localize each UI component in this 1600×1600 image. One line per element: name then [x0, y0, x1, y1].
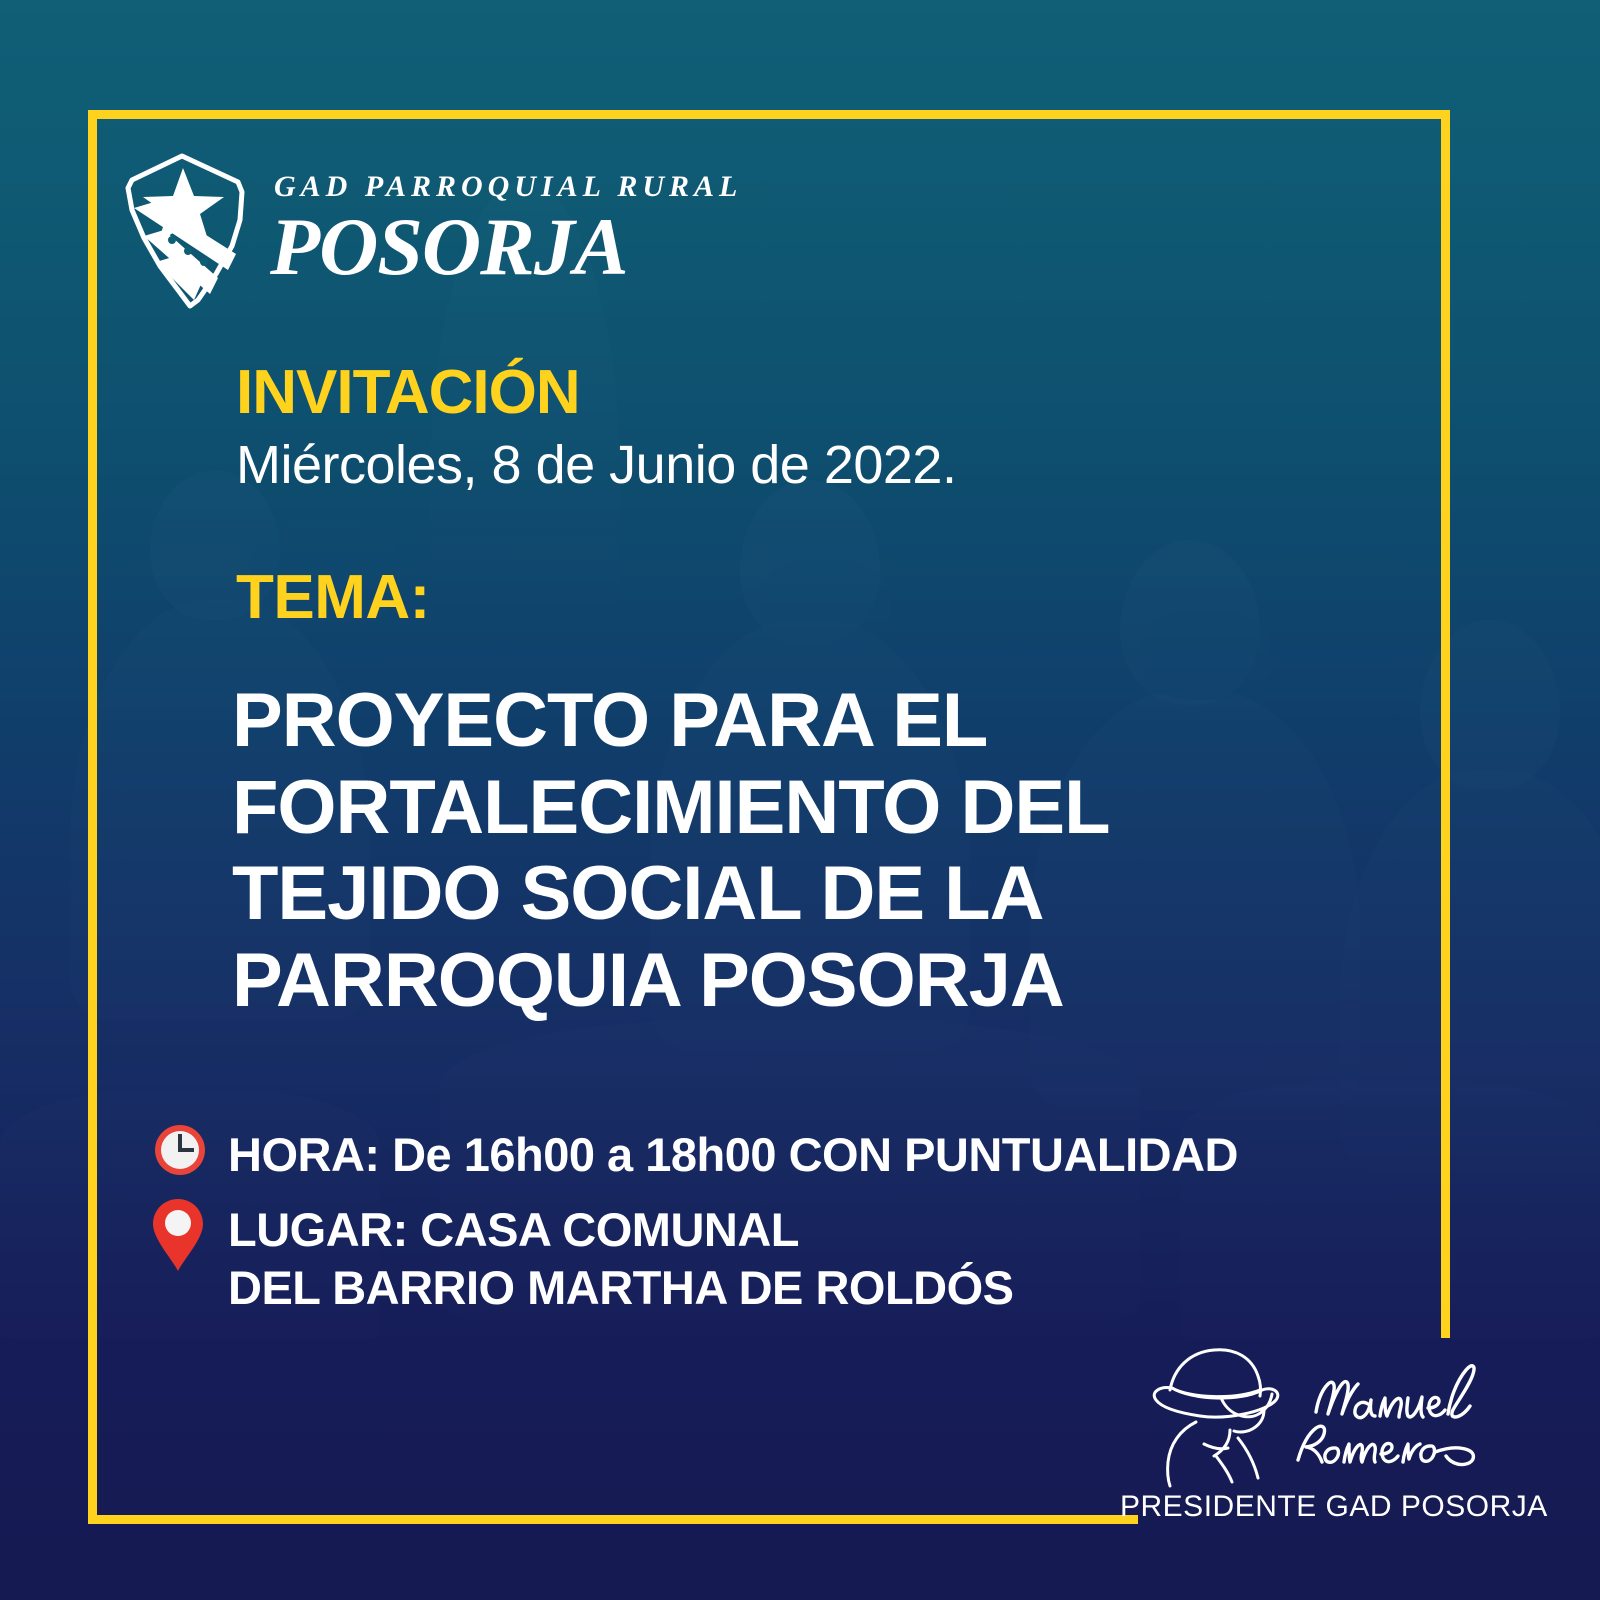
invitation-date: Miércoles, 8 de Junio de 2022.	[236, 433, 956, 498]
detail-lugar-line2: DEL BARRIO MARTHA DE ROLDÓS	[228, 1261, 1014, 1314]
signature-caption: PRESIDENTE GAD POSORJA	[1120, 1490, 1540, 1524]
topic-label: TEMA:	[236, 562, 430, 633]
detail-row-lugar: LUGAR: CASA COMUNAL DEL BARRIO MARTHA DE…	[152, 1197, 1352, 1316]
clock-icon	[152, 1122, 210, 1183]
invitation-poster: GAD PARROQUIAL RURAL POSORJA INVITACIÓN …	[0, 0, 1600, 1600]
detail-row-hora: HORA: De 16h00 a 18h00 CON PUNTUALIDAD	[152, 1122, 1352, 1183]
detail-text-lugar: LUGAR: CASA COMUNAL DEL BARRIO MARTHA DE…	[228, 1197, 1014, 1316]
invitation-heading: INVITACIÓN	[236, 360, 956, 425]
detail-lugar-line1: LUGAR: CASA COMUNAL	[228, 1203, 799, 1256]
shield-star-stripes-icon	[120, 150, 252, 310]
frame-border-bottom	[88, 1515, 1138, 1524]
signature-block: PRESIDENTE GAD POSORJA	[1120, 1338, 1540, 1524]
event-details: HORA: De 16h00 a 18h00 CON PUNTUALIDAD L…	[152, 1122, 1352, 1316]
logo-subtitle: GAD PARROQUIAL RURAL	[274, 172, 742, 202]
logo-wordmark: POSORJA	[270, 206, 742, 288]
frame-border-right	[1441, 110, 1450, 1338]
frame-border-top	[88, 110, 1450, 119]
map-pin-icon	[152, 1197, 210, 1278]
detail-text-hora: HORA: De 16h00 a 18h00 CON PUNTUALIDAD	[228, 1122, 1238, 1183]
invitation-block: INVITACIÓN Miércoles, 8 de Junio de 2022…	[236, 360, 956, 498]
topic-title: PROYECTO PARA EL FORTALECIMIENTO DEL TEJ…	[232, 678, 1222, 1025]
frame-border-left	[88, 110, 97, 1524]
man-with-hat-portrait-icon	[1120, 1338, 1540, 1488]
organization-logo: GAD PARROQUIAL RURAL POSORJA	[120, 150, 742, 310]
